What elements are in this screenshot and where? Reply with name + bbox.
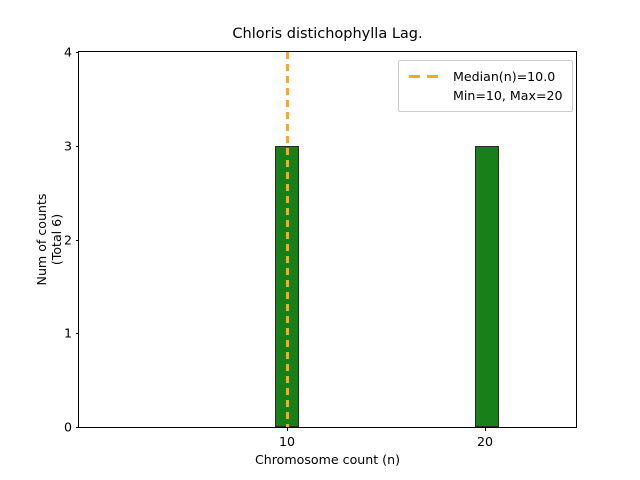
ytick-mark [76,52,80,53]
legend-entry-minmax: Min=10, Max=20 [407,86,564,105]
ytick-mark [76,427,80,428]
ytick-label: 2 [64,232,72,247]
chart-title: Chloris distichophylla Lag. [78,26,577,42]
xtick-label: 10 [279,434,295,449]
y-axis-label: Num of counts (Total 6) [34,51,56,428]
bar-n-20 [475,146,499,427]
legend-label: Min=10, Max=20 [453,88,563,103]
ytick-label: 0 [64,420,72,435]
y-axis-label-line1: Num of counts [34,194,49,286]
xtick-mark [287,427,288,431]
ytick-mark [76,333,80,334]
ytick-label: 4 [64,45,72,60]
chart-figure: Chloris distichophylla Lag. 4 3 2 1 0 10 [0,0,640,480]
y-axis-label-line2: (Total 6) [49,51,64,428]
legend-label: Median(n)=10.0 [453,69,555,84]
legend-entry-median: Median(n)=10.0 [407,67,564,86]
x-axis-label: Chromosome count (n) [78,452,577,467]
ytick-label: 3 [64,138,72,153]
median-line [286,52,289,427]
legend-empty-icon [407,90,445,102]
ytick-label: 1 [64,326,72,341]
xtick-mark [485,427,486,431]
legend-dashed-line-icon [407,71,445,83]
ytick-mark [76,240,80,241]
chart-legend: Median(n)=10.0 Min=10, Max=20 [398,60,573,112]
xtick-label: 20 [477,434,493,449]
ytick-mark [76,146,80,147]
